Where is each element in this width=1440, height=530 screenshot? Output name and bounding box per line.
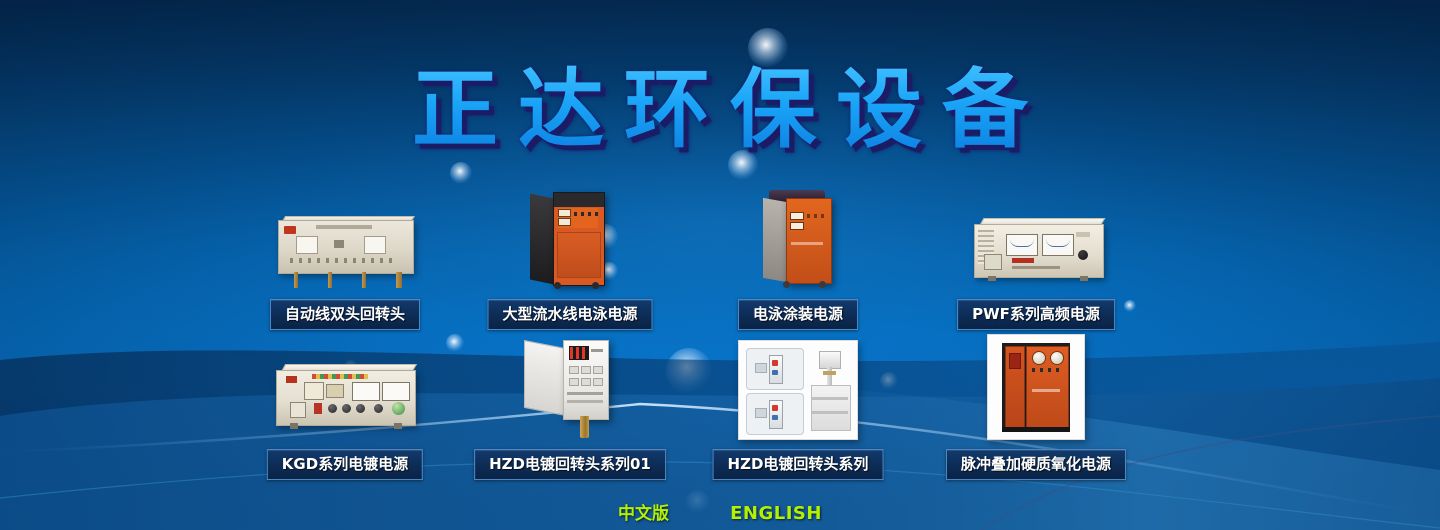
- product-image: [522, 336, 618, 440]
- product-image: [530, 192, 610, 290]
- english-version-link[interactable]: ENGLISH: [730, 503, 822, 524]
- wide-beige-cabinet-icon: [272, 212, 418, 290]
- product-label[interactable]: HZD电镀回转头系列: [713, 449, 884, 480]
- product-label[interactable]: 大型流水线电泳电源: [487, 299, 652, 330]
- product-item[interactable]: 电泳涂装电源: [718, 190, 878, 330]
- cream-meter-unit-icon: [966, 214, 1106, 290]
- bokeh-orb: [880, 372, 898, 390]
- product-item[interactable]: HZD电镀回转头系列: [718, 340, 878, 480]
- composite-machine-plate-icon: [738, 340, 858, 440]
- chinese-version-link[interactable]: 中文版: [618, 499, 669, 524]
- product-label[interactable]: 自动线双头回转头: [270, 299, 420, 330]
- product-image: [966, 214, 1106, 290]
- product-item[interactable]: HZD电镀回转头系列01: [490, 340, 650, 480]
- orange-grey-upright-unit-icon: [757, 190, 839, 290]
- product-label[interactable]: HZD电镀回转头系列01: [474, 449, 666, 480]
- product-label[interactable]: KGD系列电镀电源: [267, 449, 423, 480]
- product-item[interactable]: 脉冲叠加硬质氧化电源: [946, 340, 1126, 480]
- bokeh-orb: [446, 334, 464, 352]
- product-image: [738, 340, 858, 440]
- product-image: [757, 190, 839, 290]
- page-title: 正达环保设备: [0, 62, 1440, 158]
- white-rotary-head-icon: [522, 336, 618, 440]
- product-item[interactable]: KGD系列电镀电源: [255, 350, 435, 480]
- product-item[interactable]: 自动线双头回转头: [255, 200, 435, 330]
- product-image: [987, 334, 1085, 440]
- bokeh-orb: [450, 162, 472, 184]
- product-label[interactable]: 电泳涂装电源: [738, 299, 858, 330]
- product-image: [270, 360, 420, 440]
- language-selector: 中文版 ENGLISH: [0, 499, 1440, 524]
- product-image: [272, 212, 418, 290]
- product-label[interactable]: 脉冲叠加硬质氧化电源: [946, 449, 1126, 480]
- product-item[interactable]: PWF系列高频电源: [946, 202, 1126, 330]
- orange-double-door-cabinet-icon: [987, 334, 1085, 440]
- cream-control-console-icon: [270, 360, 420, 440]
- orange-tall-cabinet-icon: [530, 192, 610, 290]
- splash-page: 正达环保设备 自动线双头回转头 大型流水线电泳电源: [0, 0, 1440, 530]
- product-item[interactable]: 大型流水线电泳电源: [490, 190, 650, 330]
- product-label[interactable]: PWF系列高频电源: [957, 299, 1115, 330]
- bokeh-orb: [666, 348, 712, 394]
